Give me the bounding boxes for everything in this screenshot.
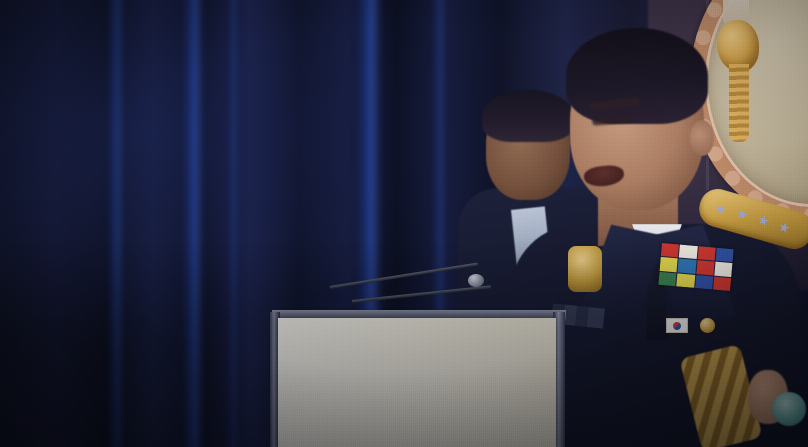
- ribbon-bar: [660, 257, 678, 272]
- stage-light-streak: [228, 0, 238, 447]
- speaking-podium: [278, 318, 556, 447]
- stage-light-streak: [108, 0, 124, 447]
- ribbon-bar: [715, 248, 733, 263]
- officer-chest-badge: [568, 246, 602, 292]
- epaulette-star-icon: [714, 203, 728, 217]
- teacup: [772, 392, 806, 426]
- ribbon-bar: [661, 243, 679, 258]
- south-korea-flag-pin-icon: [666, 318, 688, 333]
- officer-hair: [566, 28, 708, 124]
- officer-ear: [690, 120, 714, 156]
- gold-lapel-pin-icon: [700, 318, 715, 333]
- ribbon-bar: [676, 273, 694, 288]
- ribbon-bar: [695, 275, 713, 290]
- epaulette-star-icon: [735, 208, 749, 222]
- microphone-capsule-icon: [468, 274, 484, 287]
- ribbon-bar: [678, 259, 696, 274]
- stage-light-streak: [182, 0, 204, 447]
- officer-ribbon-rack: [658, 243, 733, 291]
- ribbon-bar: [697, 246, 715, 261]
- epaulette-star-icon: [777, 221, 791, 235]
- ribbon-bar: [658, 271, 676, 286]
- video-frame: PARTICIPANTS REMARK 2025 APPRECIATION JU…: [0, 0, 808, 447]
- ribbon-bar: [713, 276, 731, 291]
- ribbon-bar: [679, 245, 697, 260]
- epaulette-star-icon: [757, 214, 771, 228]
- scene-photo: [0, 0, 808, 447]
- ribbon-bar: [696, 260, 714, 275]
- ribbon-bar: [714, 262, 732, 277]
